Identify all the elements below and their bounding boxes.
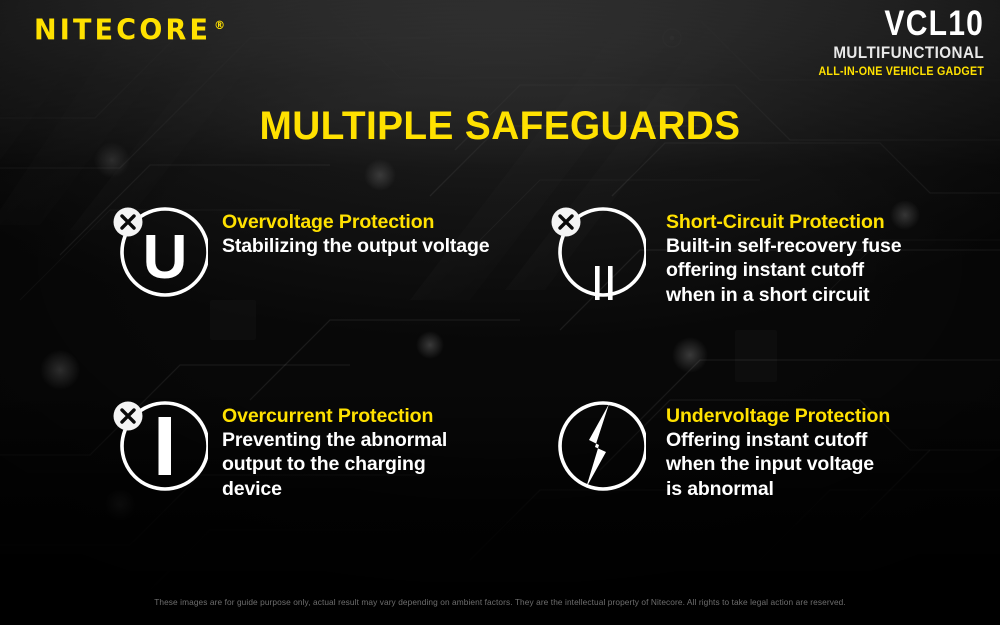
- blocked-badge-icon: [114, 208, 143, 237]
- short-circuit-fuse-icon: [546, 204, 646, 304]
- product-branding: VCL10 MULTIFUNCTIONAL ALL-IN-ONE VEHICLE…: [806, 6, 984, 80]
- feature-text-block: Overvoltage Protection Stabilizing the o…: [208, 204, 489, 258]
- feature-description-line: when in a short circuit: [666, 284, 901, 307]
- feature-short-circuit-protection: Short-Circuit Protection Built-in self-r…: [546, 204, 901, 307]
- overcurrent-circle-i-icon: [108, 398, 208, 498]
- feature-description-line: Preventing the abnormal: [222, 429, 447, 452]
- blocked-badge-icon: [114, 402, 143, 431]
- feature-description-line: is abnormal: [666, 478, 890, 501]
- product-subtitle: MULTIFUNCTIONAL: [820, 44, 984, 64]
- feature-description-line: output to the charging: [222, 453, 447, 476]
- feature-text-block: Undervoltage Protection Offering instant…: [646, 398, 890, 501]
- feature-description-line: Built-in self-recovery fuse: [666, 235, 901, 258]
- feature-description-line: Offering instant cutoff: [666, 429, 890, 452]
- feature-text-block: Short-Circuit Protection Built-in self-r…: [646, 204, 901, 307]
- feature-text-block: Overcurrent Protection Preventing the ab…: [208, 398, 447, 501]
- feature-title: Overvoltage Protection: [222, 212, 489, 234]
- nitecore-brand-logo: NITECORE®: [34, 14, 225, 47]
- feature-description-line: when the input voltage: [666, 453, 890, 476]
- page-title: MULTIPLE SAFEGUARDS: [15, 104, 985, 149]
- feature-title: Short-Circuit Protection: [666, 212, 901, 234]
- legal-disclaimer: These images are for guide purpose only,…: [5, 597, 995, 607]
- registered-trademark-icon: ®: [214, 18, 225, 32]
- feature-title: Overcurrent Protection: [222, 406, 447, 428]
- feature-overvoltage-protection: U Overvoltage Protection Stabilizing the…: [108, 204, 489, 304]
- feature-overcurrent-protection: Overcurrent Protection Preventing the ab…: [108, 398, 447, 501]
- overvoltage-circle-u-icon: U: [108, 204, 208, 304]
- feature-description-line: Stabilizing the output voltage: [222, 235, 489, 258]
- brand-logo-text: NITECORE: [34, 14, 211, 47]
- marketing-slide: NITECORE® VCL10 MULTIFUNCTIONAL ALL-IN-O…: [0, 0, 1000, 625]
- feature-description-line: offering instant cutoff: [666, 259, 901, 282]
- svg-text:U: U: [143, 223, 188, 292]
- blocked-badge-icon: [552, 208, 581, 237]
- feature-description-line: device: [222, 478, 447, 501]
- product-tagline: ALL-IN-ONE VEHICLE GADGET: [818, 65, 984, 79]
- undervoltage-bolt-icon: [546, 398, 646, 498]
- feature-undervoltage-protection: Undervoltage Protection Offering instant…: [546, 398, 890, 501]
- feature-title: Undervoltage Protection: [666, 406, 890, 428]
- product-model-name: VCL10: [831, 6, 984, 42]
